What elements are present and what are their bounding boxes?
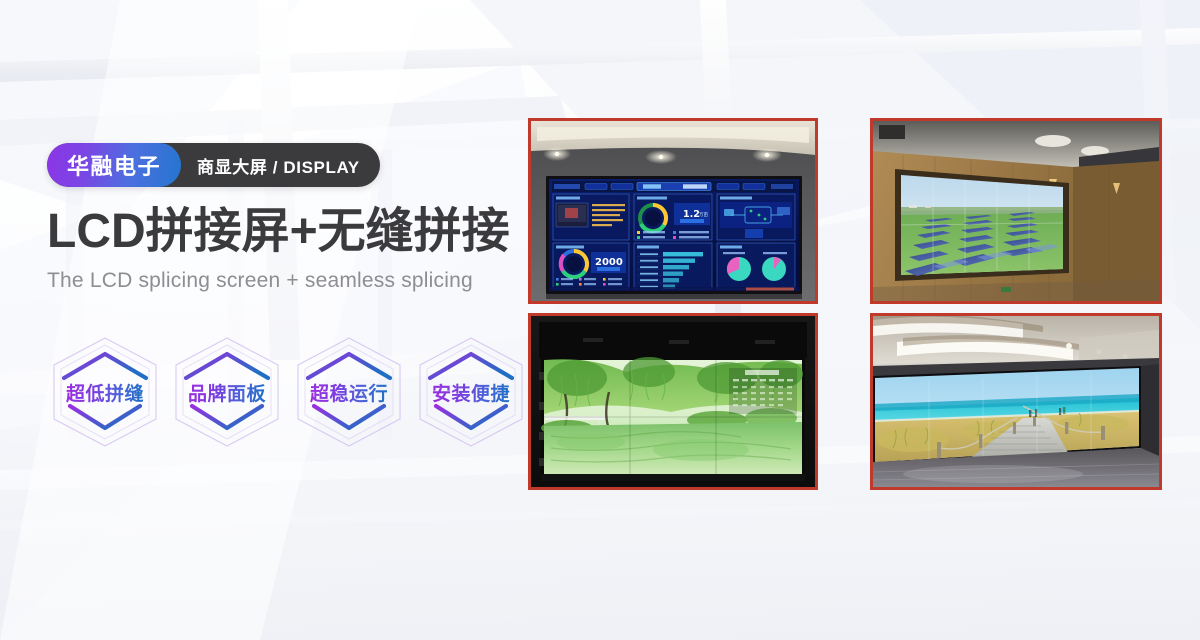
garden-wall-scene [531,316,815,487]
page-title: LCD拼接屏+无缝拼接 [47,207,527,257]
photo-solar-content [873,121,1159,301]
photo-beach-content [873,316,1159,487]
svg-text:万亩: 万亩 [699,211,708,218]
dashboard-scene: 1.2 万亩 [531,121,815,301]
copy-block: 华融电子 商显大屏 / DISPLAY LCD拼接屏+无缝拼接 The LCD … [47,143,527,293]
feature-badge-label: 超稳运行 [310,379,388,406]
photo-garden-pond-video-wall[interactable] [528,313,818,490]
feature-badge-label: 超低拼缝 [66,379,144,406]
feature-badge-list: 超低拼缝 品牌面板 [46,332,530,452]
feature-badge-4: 安装便捷 [412,332,530,452]
promo-banner: 华融电子 商显大屏 / DISPLAY LCD拼接屏+无缝拼接 The LCD … [0,0,1200,640]
brand-pill: 华融电子 商显大屏 / DISPLAY [47,143,380,187]
beach-wall-scene [873,316,1159,487]
feature-badge-2: 品牌面板 [168,332,286,452]
svg-text:1.2: 1.2 [683,209,700,220]
product-photo-grid: 1.2 万亩 [528,118,1164,490]
photo-dashboard-content: 1.2 万亩 [531,121,815,301]
photo-beach-boardwalk-video-wall[interactable] [870,313,1162,490]
feature-badge-3: 超稳运行 [290,332,408,452]
page-subtitle: The LCD splicing screen + seamless splic… [47,269,527,293]
feature-badge-label: 品牌面板 [188,379,266,406]
brand-name: 华融电子 [47,143,181,187]
svg-text:2000: 2000 [595,257,623,268]
feature-badge-label: 安装便捷 [432,379,510,406]
brand-category-tag: 商显大屏 / DISPLAY [181,153,380,178]
photo-solar-farm-video-wall[interactable] [870,118,1162,304]
photo-dashboard-video-wall[interactable]: 1.2 万亩 [528,118,818,304]
solar-wall-scene [873,121,1159,301]
photo-garden-content [531,316,815,487]
feature-badge-1: 超低拼缝 [46,332,164,452]
